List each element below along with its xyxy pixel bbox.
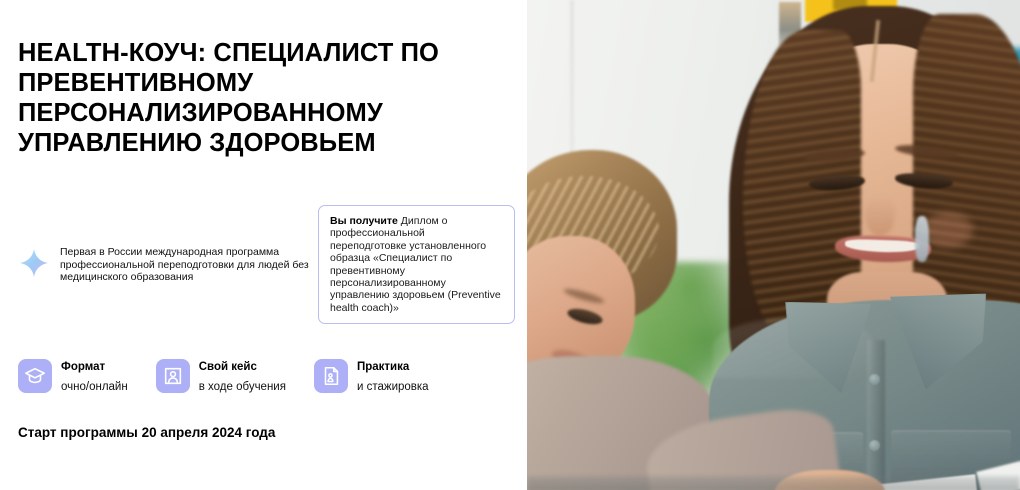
highlight-bullet-text: Первая в России международная программа … (60, 243, 313, 284)
feature-item-format: Формат очно/онлайн (18, 356, 128, 396)
person-frame-icon (156, 359, 190, 393)
feature-labels: Формат очно/онлайн (61, 356, 128, 396)
photo-shirt-button (869, 374, 880, 385)
photo-person1-cheek (923, 212, 973, 248)
photo-person1-nose (865, 196, 895, 236)
highlight-bullet: Первая в России международная программа … (18, 243, 313, 284)
highlight-row: Первая в России международная программа … (18, 205, 518, 325)
photo-desk (527, 476, 1020, 490)
feature-title: Свой кейс (199, 361, 257, 373)
graduation-cap-icon (18, 359, 52, 393)
program-start-date: Старт программы 20 апреля 2024 года (18, 425, 275, 440)
page-title: HEALTH-КОУЧ: СПЕЦИАЛИСТ ПО ПРЕВЕНТИВНОМУ… (18, 38, 498, 158)
feature-subtitle: очно/онлайн (61, 381, 128, 393)
photo-person1-earring (915, 216, 929, 262)
diploma-callout-box: Вы получите Диплом о профессиональной пе… (318, 205, 515, 324)
feature-labels: Практика и стажировка (357, 356, 429, 396)
sparkle-icon (18, 247, 50, 279)
feature-labels: Свой кейс в ходе обучения (199, 356, 286, 396)
feature-subtitle: в ходе обучения (199, 381, 286, 393)
diploma-callout-text: Вы получите Диплом о профессиональной пе… (330, 215, 503, 314)
photo-shirt-button (869, 440, 880, 451)
feature-title: Формат (61, 361, 105, 373)
feature-item-own-case: Свой кейс в ходе обучения (156, 356, 286, 396)
certificate-person-icon (314, 359, 348, 393)
diploma-body: Диплом о профессиональной переподготовке… (330, 215, 501, 314)
feature-item-practice: Практика и стажировка (314, 356, 429, 396)
left-content-pane: HEALTH-КОУЧ: СПЕЦИАЛИСТ ПО ПРЕВЕНТИВНОМУ… (0, 0, 527, 490)
diploma-lead: Вы получите (330, 215, 398, 227)
feature-title: Практика (357, 361, 409, 373)
hero-photo (527, 0, 1020, 490)
feature-subtitle: и стажировка (357, 381, 429, 393)
photo-shirt-placket (867, 340, 885, 490)
feature-list: Формат очно/онлайн Свой кейс в ходе обуч… (18, 356, 429, 396)
hero-section: HEALTH-КОУЧ: СПЕЦИАЛИСТ ПО ПРЕВЕНТИВНОМУ… (0, 0, 1020, 490)
